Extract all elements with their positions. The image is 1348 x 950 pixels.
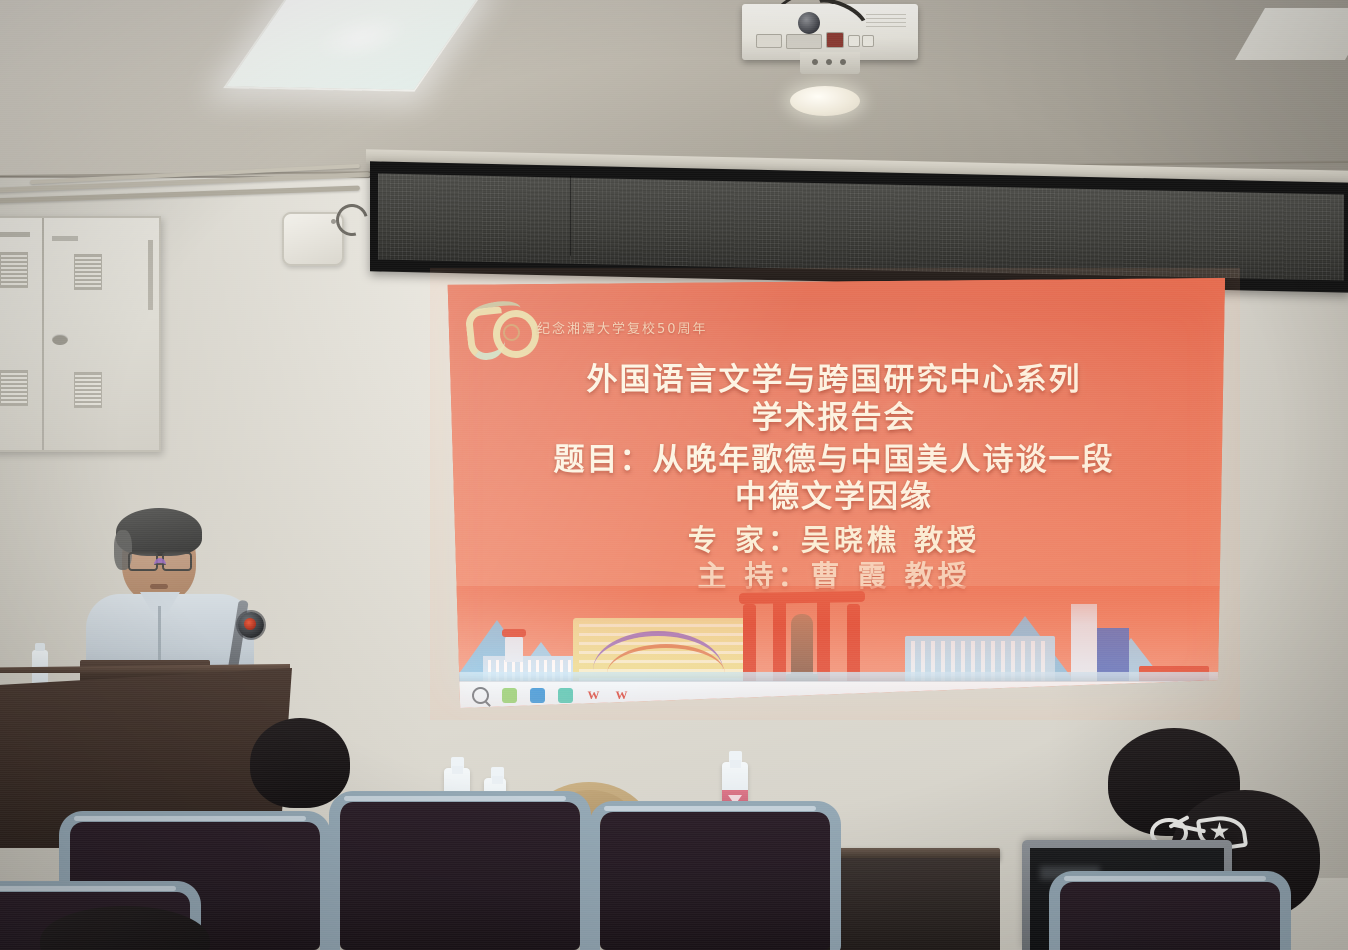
cabinet-label [0, 232, 30, 237]
blackboard-grille-band [370, 161, 1348, 292]
cabinet-vent-icon [74, 372, 102, 408]
cabinet-vent-icon [0, 252, 28, 288]
anniversary-logo-caption: 纪念湘潭大学复校50周年 [537, 318, 708, 337]
wps-writer-icon[interactable]: W [586, 688, 601, 703]
cabinet-vent-icon [0, 370, 28, 406]
fifty-mark-icon [467, 304, 527, 350]
grille-mesh [378, 173, 1344, 280]
lecture-seat[interactable] [340, 800, 580, 950]
slide-expert-line: 专 家：吴晓樵 教授 [443, 523, 1225, 558]
presenter-glasses-icon [128, 552, 192, 567]
lecture-seat[interactable] [1060, 880, 1280, 950]
search-icon[interactable] [472, 687, 489, 704]
cabinet-handle-icon[interactable] [52, 334, 68, 345]
projector-port [862, 35, 874, 47]
slide-topic-line-2: 中德文学因缘 [443, 479, 1225, 517]
slide-topic-line-1: 题目：从晚年歌德与中国美人诗谈一段 [443, 442, 1225, 480]
taskbar-app-blue-icon[interactable] [530, 688, 545, 703]
taskbar-left-group: W W [443, 687, 629, 704]
projector-label [866, 14, 906, 30]
campus-skyline-illustration [443, 586, 1225, 682]
taskbar-app-teal-icon[interactable] [558, 688, 573, 703]
cabinet-label [52, 236, 78, 241]
projector-screw-icon [840, 59, 846, 65]
wps-presentation-icon[interactable]: W [614, 688, 629, 703]
slide-title-line-1: 外国语言文学与跨国研究中心系列 [443, 362, 1225, 400]
lecture-hall-photo: 纪念湘潭大学复校50周年 外国语言文学与跨国研究中心系列 学术报告会 题目：从晚… [0, 0, 1348, 950]
taskbar-app-green-icon[interactable] [502, 688, 517, 703]
lecture-seat[interactable] [600, 810, 830, 950]
wall-cabinet[interactable] [0, 216, 161, 452]
cabinet-edge [148, 240, 153, 310]
projector-port [756, 34, 782, 48]
slide-text-block: 外国语言文学与跨国研究中心系列 学术报告会 题目：从晚年歌德与中国美人诗谈一段 … [443, 362, 1225, 594]
projector-port [786, 34, 822, 49]
presenter-mouth [150, 584, 168, 589]
presenter-at-podium [84, 508, 254, 678]
projector-screw-icon [826, 59, 832, 65]
ceiling-downlight-icon [790, 86, 860, 116]
cabinet-door-seam [42, 218, 44, 450]
projector-mount [800, 52, 860, 74]
audience-member [250, 718, 350, 808]
projector-screw-icon [812, 59, 818, 65]
podium-microphone [238, 612, 264, 638]
skyline-haze [443, 586, 1225, 682]
cabinet-vent-icon [74, 254, 102, 290]
grille-seam [570, 176, 571, 256]
projection-screen: 纪念湘潭大学复校50周年 外国语言文学与跨国研究中心系列 学术报告会 题目：从晚… [443, 278, 1225, 708]
anniversary-logo: 纪念湘潭大学复校50周年 [467, 304, 708, 350]
slide-title-line-2: 学术报告会 [443, 400, 1225, 438]
presenter-shirt-placket [158, 606, 161, 664]
